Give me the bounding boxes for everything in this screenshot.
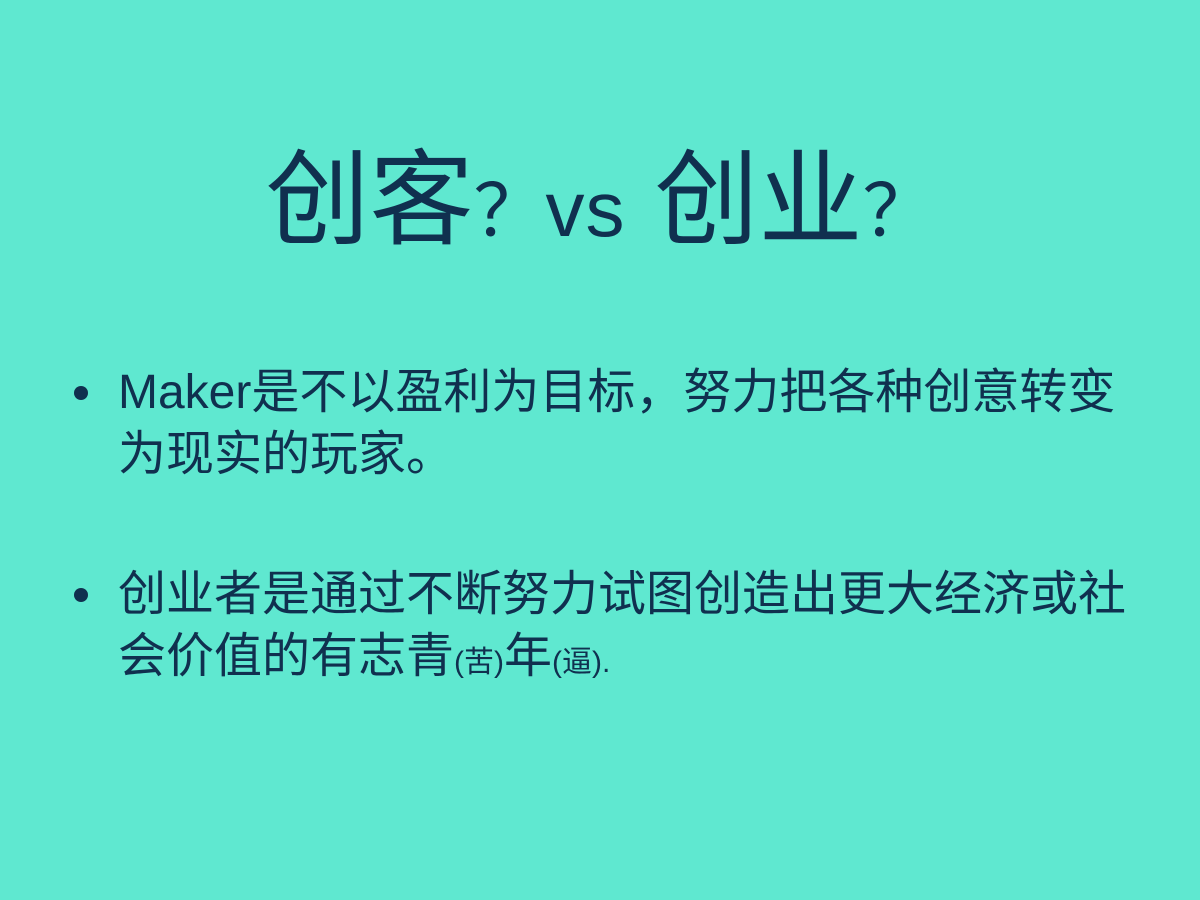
presentation-slide: 创客？vs 创业？ Maker是不以盈利为目标，努力把各种创意转变为现实的玩家。… xyxy=(0,0,1200,900)
slide-title-question-mark-one: ？ xyxy=(474,172,546,252)
slide-title-vs: vs xyxy=(546,165,626,253)
bullet-text-entrepreneur: 创业者是通过不断努力试图创造出更大经济或社会价值的有志青(苦)年(逼). xyxy=(118,564,1152,694)
slide-title-part-two: 创业 xyxy=(654,143,862,259)
bullet-text-entrepreneur-tail: . xyxy=(602,646,610,679)
bullet-annotation-ku: (苦) xyxy=(454,646,504,679)
bullet-text-entrepreneur-mid: 年 xyxy=(504,630,552,683)
slide-title-part-one: 创客 xyxy=(266,143,474,259)
bullet-marker-icon xyxy=(62,362,118,424)
bullet-text-maker: Maker是不以盈利为目标，努力把各种创意转变为现实的玩家。 xyxy=(118,362,1152,486)
slide-body: Maker是不以盈利为目标，努力把各种创意转变为现实的玩家。 创业者是通过不断努… xyxy=(62,362,1152,694)
bullet-item-maker: Maker是不以盈利为目标，努力把各种创意转变为现实的玩家。 xyxy=(62,362,1152,486)
bullet-text-entrepreneur-lead: 创业者是通过不断努力试图创造出更大经济或社会价值的有志青 xyxy=(118,568,1126,683)
bullet-annotation-bi: (逼) xyxy=(552,646,602,679)
slide-title-question-mark-two: ？ xyxy=(862,172,934,252)
slide-title: 创客？vs 创业？ xyxy=(0,140,1200,263)
bullet-marker-icon xyxy=(62,564,118,626)
bullet-item-entrepreneur: 创业者是通过不断努力试图创造出更大经济或社会价值的有志青(苦)年(逼). xyxy=(62,564,1152,694)
